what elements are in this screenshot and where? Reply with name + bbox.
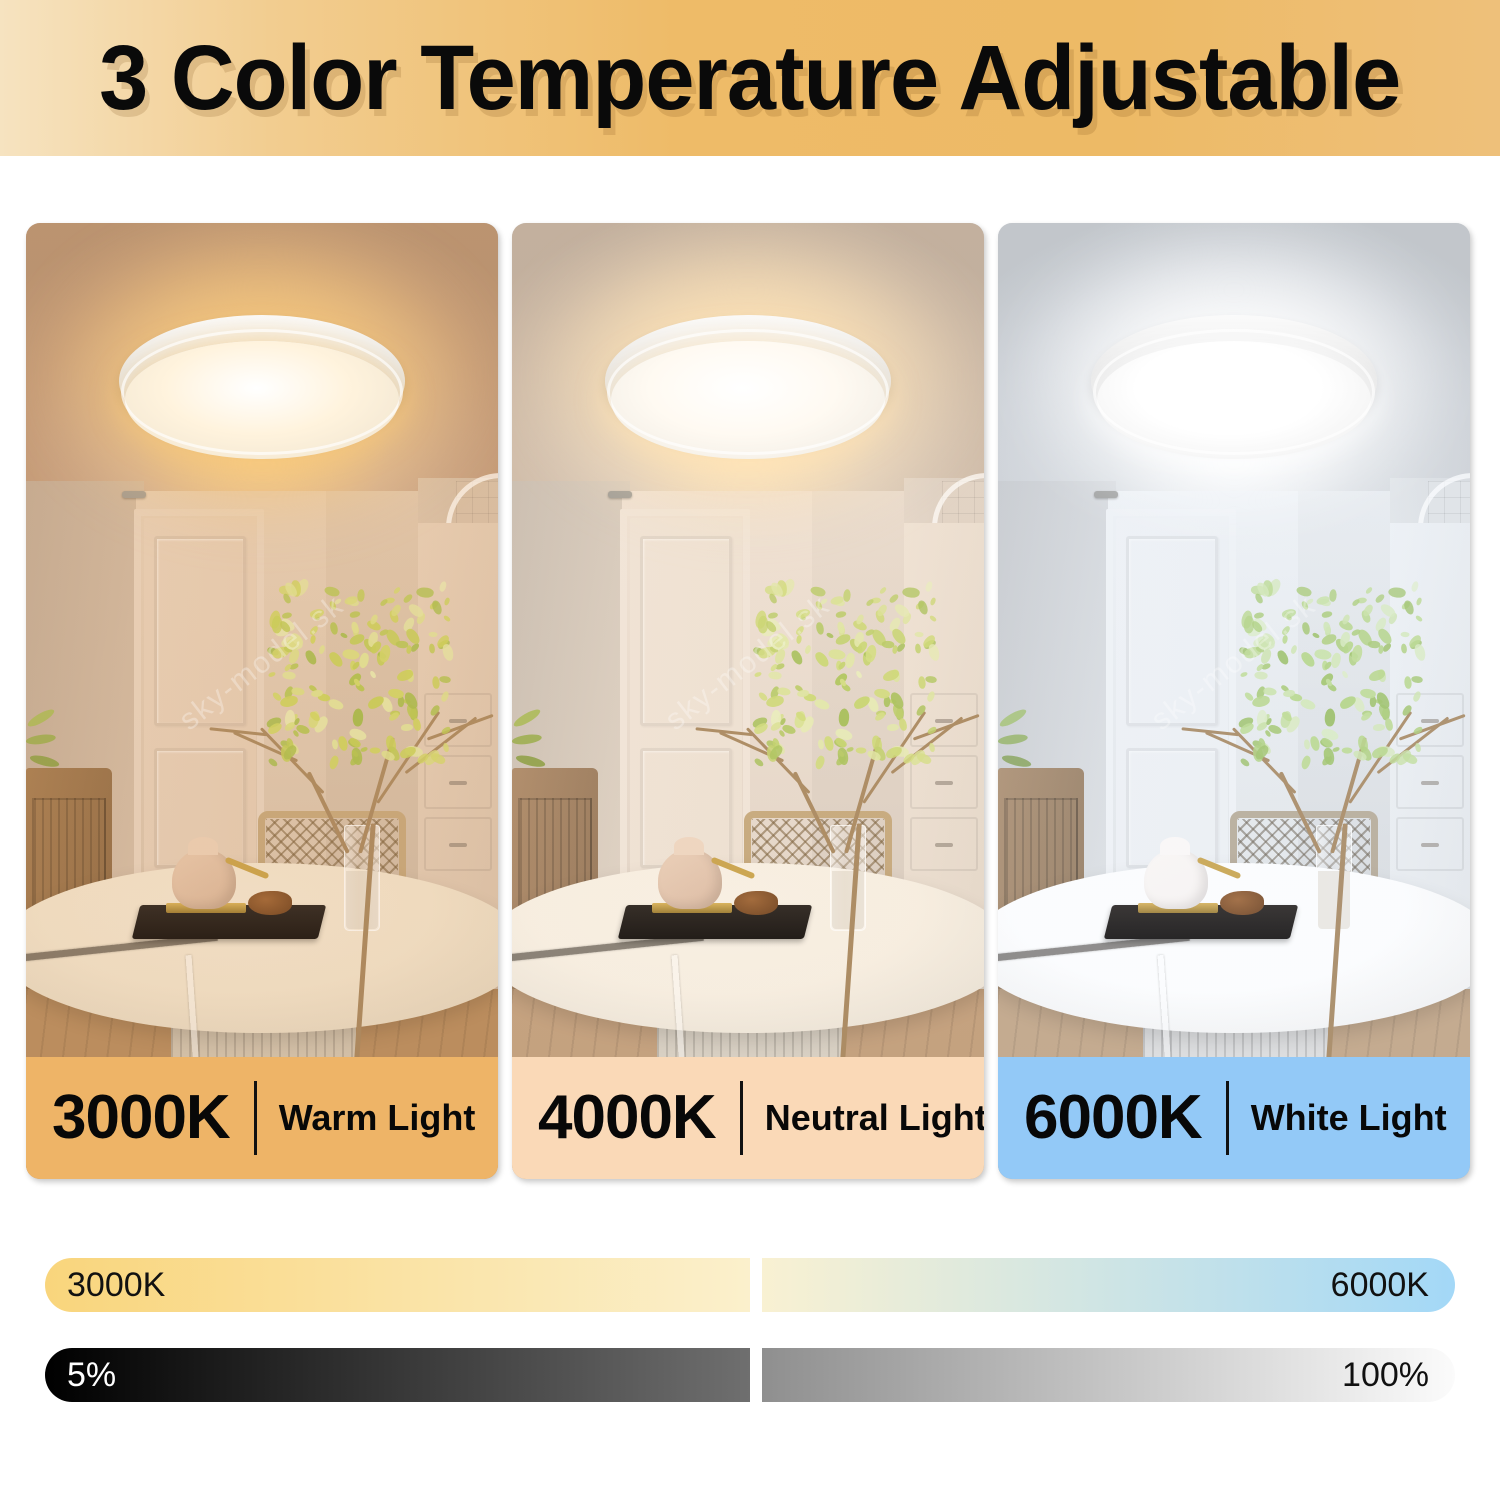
leaf [1341, 670, 1349, 679]
leaf [413, 718, 422, 731]
leaf [809, 584, 826, 598]
leaf [280, 695, 299, 708]
kelvin-value: 4000K [538, 1087, 716, 1149]
leaf [438, 675, 451, 684]
leaf [1404, 676, 1411, 689]
leaf [317, 645, 326, 655]
leaf [332, 740, 338, 750]
leaf [440, 690, 451, 703]
leaf [1415, 597, 1423, 606]
leaf [443, 597, 451, 606]
leaf [1281, 608, 1296, 618]
leaf [766, 695, 785, 708]
leaf [842, 589, 851, 603]
leaf [837, 707, 850, 726]
leaf [348, 632, 365, 645]
leaf [929, 742, 935, 752]
leaf [281, 671, 295, 681]
brightness-min-label: 5% [67, 1358, 116, 1392]
leaf [1374, 593, 1386, 604]
leaf [267, 757, 278, 768]
color-temperature-panel-6000k[interactable]: sky-model.sk 6000K White Light [998, 223, 1470, 1179]
leaf [1240, 671, 1248, 677]
led-ceiling-light [605, 315, 891, 461]
leaf [1282, 635, 1289, 645]
leaf [1365, 586, 1374, 594]
room-scene: sky-model.sk [512, 223, 984, 1179]
leaf [1323, 707, 1336, 726]
leaf [836, 622, 845, 635]
brightness-scale-right-segment: 100% [762, 1348, 1455, 1402]
leaf [443, 614, 451, 622]
leaf [1328, 589, 1337, 603]
kelvin-value: 3000K [52, 1087, 230, 1149]
leaf [415, 585, 434, 598]
panel-label-bar: 3000K Warm Light [26, 1057, 498, 1179]
leaf [915, 644, 921, 654]
leaf [803, 645, 812, 655]
leaf [795, 608, 810, 618]
leaf [824, 736, 835, 752]
leaf [429, 644, 435, 654]
vase-water [1318, 871, 1350, 929]
cct-min-label: 3000K [67, 1268, 165, 1302]
potted-plant [26, 711, 78, 791]
teapot-lid [1160, 837, 1190, 855]
leaf [438, 581, 448, 593]
leaf [356, 589, 365, 603]
pastry [248, 891, 292, 915]
leaf [1289, 645, 1298, 655]
leaf [1300, 754, 1313, 770]
leaf [855, 670, 863, 679]
leaf [834, 632, 851, 645]
leaf [1263, 686, 1278, 696]
cct-scale-gap [750, 1258, 762, 1312]
leaf [926, 726, 937, 735]
leaf [351, 707, 364, 726]
leaf [1341, 747, 1352, 754]
lamp-rim [1093, 329, 1375, 455]
leaf [440, 726, 451, 735]
leaf [350, 611, 361, 618]
leaf [323, 584, 340, 598]
potted-plant [998, 711, 1050, 791]
label-divider [1226, 1081, 1229, 1155]
label-divider [740, 1081, 743, 1155]
label-divider [254, 1081, 257, 1155]
leaf [328, 754, 341, 770]
led-ceiling-light [1091, 315, 1377, 461]
leaf [901, 585, 920, 598]
leaf [796, 635, 803, 645]
leaf [777, 686, 792, 696]
leaf [1385, 718, 1394, 731]
leaf [304, 649, 318, 666]
leaf [291, 686, 306, 696]
leaf [819, 598, 827, 605]
leaf [929, 614, 937, 622]
leaf [333, 598, 341, 605]
leaf [1387, 585, 1406, 598]
leaf [309, 608, 324, 618]
leaf [814, 754, 827, 770]
leaf [401, 724, 413, 731]
leaf [1410, 675, 1423, 684]
leaf [1332, 747, 1340, 753]
leaf [1401, 644, 1407, 654]
leaf [442, 643, 455, 662]
vase-water [346, 871, 378, 929]
title-banner: 3 Color Temperature Adjustable [0, 0, 1500, 156]
leaf [924, 675, 937, 684]
leaf [360, 747, 368, 753]
vase-water [832, 871, 864, 929]
leaf [1415, 614, 1423, 622]
flowering-branch [712, 573, 942, 848]
pastry [734, 891, 778, 915]
leaf [429, 631, 439, 637]
leaf [1276, 649, 1290, 666]
leaf [1239, 757, 1250, 768]
leaf [330, 622, 339, 635]
leaf [342, 647, 361, 661]
leaf [767, 671, 781, 681]
leaf [836, 611, 847, 618]
panel-label-bar: 4000K Neutral Light [512, 1057, 984, 1179]
room-scene: sky-model.sk [998, 223, 1470, 1179]
leaf [1401, 631, 1411, 637]
brightness-scale-gap [750, 1348, 762, 1402]
leaf [443, 742, 449, 752]
leaf [1414, 643, 1427, 662]
leaf [1252, 695, 1271, 708]
leaf [1305, 598, 1313, 605]
teapot-lid [674, 837, 704, 855]
panel-label-bar: 6000K White Light [998, 1057, 1470, 1179]
leaf [1415, 742, 1421, 752]
light-name: White Light [1251, 1100, 1447, 1136]
leaf [402, 593, 414, 604]
leaf [1310, 736, 1321, 752]
leaf [1320, 632, 1337, 645]
leaf [1322, 622, 1331, 635]
page-title: 3 Color Temperature Adjustable [99, 32, 1400, 124]
lamp-rim [121, 329, 403, 455]
leaf [1302, 622, 1311, 635]
lamp-rim [607, 329, 889, 455]
cct-max-label: 6000K [1331, 1268, 1429, 1302]
leaf [926, 690, 937, 703]
leaf [350, 622, 359, 635]
leaf [1403, 600, 1415, 616]
leaf [899, 718, 908, 731]
leaf [369, 670, 377, 679]
leaf [828, 647, 847, 661]
leaf [915, 631, 925, 637]
leaf [339, 632, 347, 639]
leaf [790, 649, 804, 666]
room-scene: sky-model.sk [26, 223, 498, 1179]
leaf [1412, 726, 1423, 735]
led-ceiling-light [119, 315, 405, 461]
leaf [1410, 581, 1420, 593]
flowering-branch [226, 573, 456, 848]
leaf [887, 724, 899, 731]
leaf [855, 747, 866, 754]
leaf [268, 671, 276, 677]
leaf [879, 586, 888, 594]
leaf [846, 747, 854, 753]
leaf [825, 632, 833, 639]
leaf [1253, 671, 1267, 681]
leaf [928, 643, 941, 662]
leaf [369, 747, 380, 754]
kelvin-value: 6000K [1024, 1087, 1202, 1149]
leaf [918, 676, 925, 689]
leaf [1311, 632, 1319, 639]
flowering-branch [1198, 573, 1428, 848]
leaf [1295, 584, 1312, 598]
leaf [432, 676, 439, 689]
leaf [818, 740, 824, 750]
leaf [393, 586, 402, 594]
color-temperature-panel-4000k[interactable]: sky-model.sk 4000K Neutral Light [512, 223, 984, 1179]
leaf [754, 671, 762, 677]
light-name: Warm Light [279, 1100, 476, 1136]
cct-scale-left-segment: 3000K [45, 1258, 750, 1312]
cct-scale-right-segment: 6000K [762, 1258, 1455, 1312]
leaf [924, 581, 934, 593]
leaf [753, 757, 764, 768]
leaf [338, 736, 349, 752]
pastry [1220, 891, 1264, 915]
leaf [1304, 740, 1310, 750]
leaf [1314, 647, 1333, 661]
leaf [816, 622, 825, 635]
leaf [431, 600, 443, 616]
potted-plant [512, 711, 564, 791]
leaf [1373, 724, 1385, 731]
leaf [917, 600, 929, 616]
color-temperature-panels: sky-model.sk 3000K Warm Light [26, 223, 1474, 1179]
color-temperature-scale-bar[interactable]: 3000K 6000K [45, 1258, 1455, 1312]
leaf [310, 635, 317, 645]
leaf [1412, 690, 1423, 703]
light-name: Neutral Light [765, 1100, 984, 1136]
leaf [1322, 611, 1333, 618]
color-temperature-panel-3000k[interactable]: sky-model.sk 3000K Warm Light [26, 223, 498, 1179]
leaf [929, 597, 937, 606]
brightness-scale-left-segment: 5% [45, 1348, 750, 1402]
brightness-scale-bar[interactable]: 5% 100% [45, 1348, 1455, 1402]
brightness-max-label: 100% [1342, 1358, 1429, 1392]
teapot-lid [188, 837, 218, 855]
leaf [888, 593, 900, 604]
